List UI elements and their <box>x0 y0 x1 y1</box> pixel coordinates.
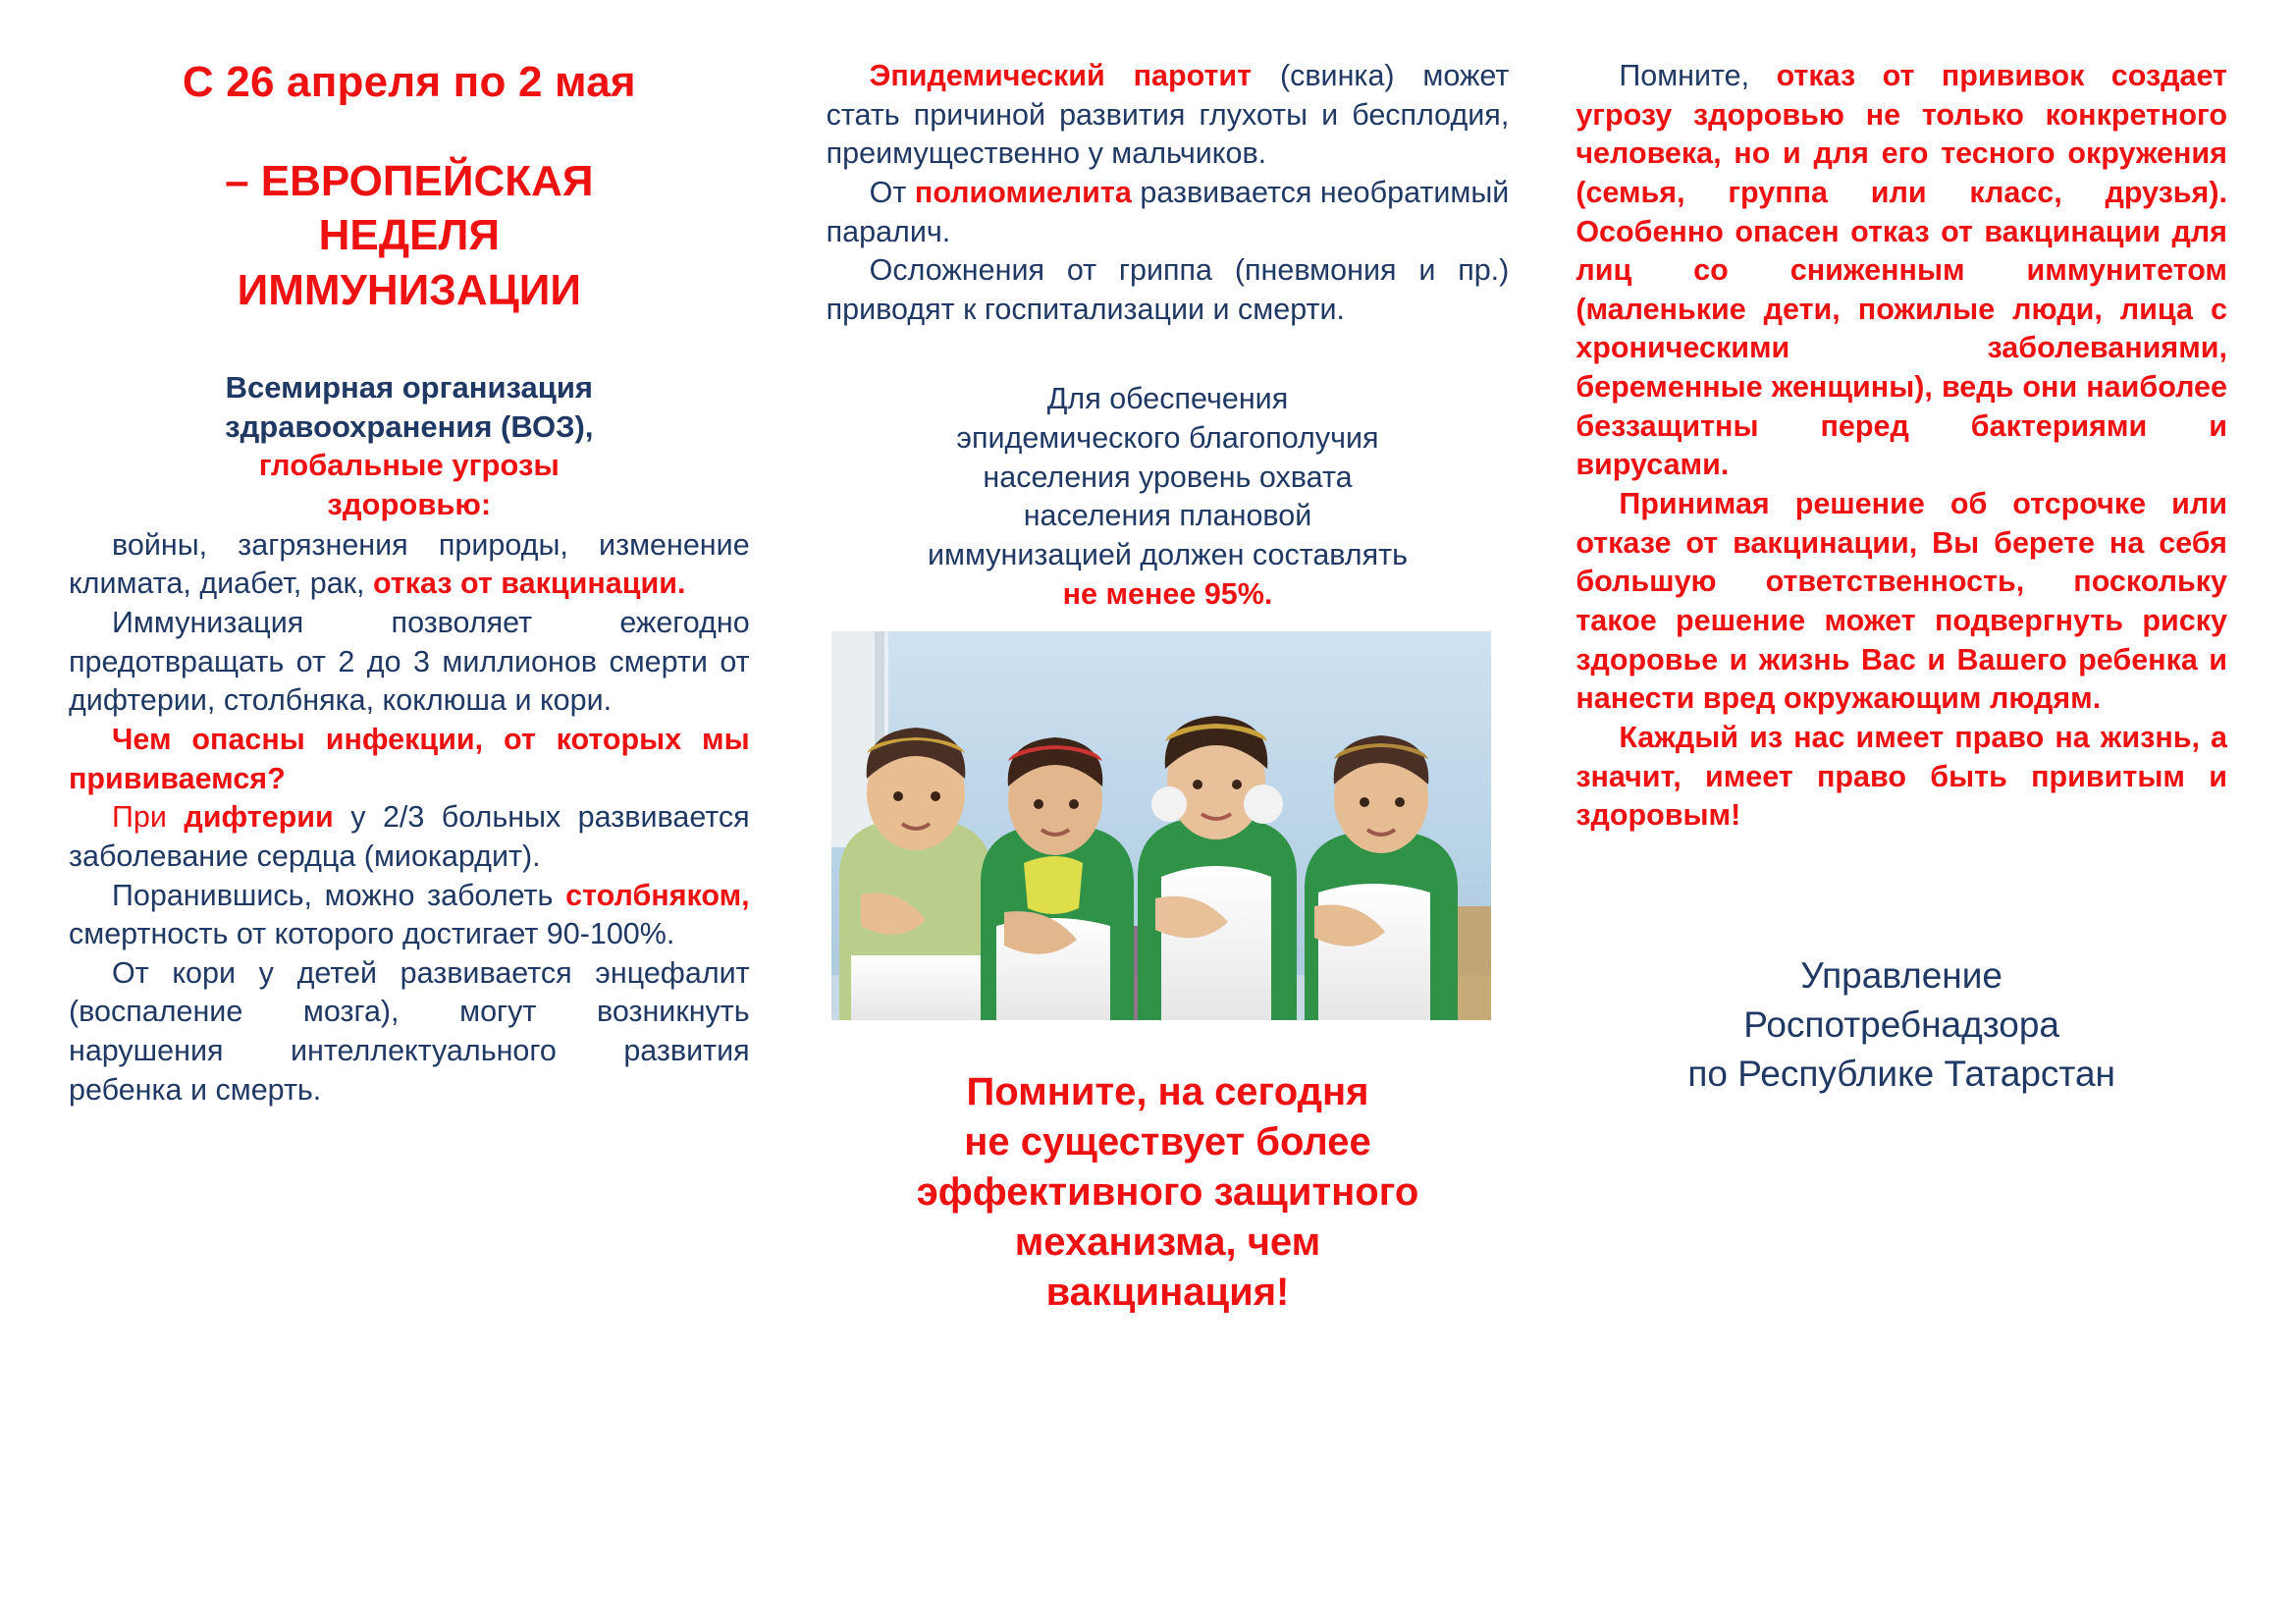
photo-illustration <box>831 631 1491 1020</box>
diphtheria-prefix: При <box>112 800 184 834</box>
footer-line-2: Роспотребнадзора <box>1575 1001 2227 1050</box>
paragraph-flu: Осложнения от гриппа (пневмония и пр.) п… <box>827 251 1510 329</box>
tetanus-rest: смертность от которого достигает 90-100%… <box>69 917 674 950</box>
polio-keyword: полиомиелита <box>915 176 1132 209</box>
brochure-page: С 26 апреля по 2 мая – ЕВРОПЕЙСКАЯ НЕДЕЛ… <box>0 0 2296 1624</box>
who-title-line-2: здравоохранения (ВОЗ), <box>69 407 750 447</box>
paragraph-measles: От кори у детей развивается энцефалит (в… <box>69 954 750 1110</box>
right-column: Помните, отказ от прививок создает угроз… <box>1540 57 2227 1585</box>
coverage-statement: Для обеспечения эпидемического благополу… <box>827 380 1510 614</box>
mumps-keyword: Эпидемический паротит <box>870 59 1252 92</box>
paragraph-diphtheria: При дифтерии у 2/3 больных развивается з… <box>69 798 750 876</box>
footer-organization: Управление Роспотребнадзора по Республик… <box>1575 951 2227 1099</box>
diphtheria-keyword: дифтерии <box>184 800 333 834</box>
coverage-line-5: иммунизацией должен составлять <box>928 538 1408 571</box>
paragraph-tetanus: Поранившись, можно заболеть столбняком, … <box>69 877 750 954</box>
photo-children-vaccinated <box>831 631 1491 1020</box>
callout-line-2: не существует более <box>964 1120 1371 1164</box>
heading-danger-infections: Чем опасны инфекции, от которых мы приви… <box>69 721 750 798</box>
paragraph-right-to-health: Каждый из нас имеет право на жизнь, а зн… <box>1575 719 2227 836</box>
left-column: С 26 апреля по 2 мая – ЕВРОПЕЙСКАЯ НЕДЕЛ… <box>69 57 795 1585</box>
callout-line-5: вакцинация! <box>1046 1271 1290 1314</box>
who-threats-line-1: глобальные угрозы <box>69 446 750 485</box>
polio-prefix: От <box>870 176 915 209</box>
callout-line-4: механизма, чем <box>1015 1220 1321 1264</box>
who-title-line-1: Всемирная организация <box>69 368 750 407</box>
refusal-prefix: Помните, <box>1619 59 1776 92</box>
refusal-body: отказ от прививок создает угрозу здоровь… <box>1575 59 2227 481</box>
left-paragraphs: войны, загрязнения природы, изменение кл… <box>69 526 750 1110</box>
headline-main: – ЕВРОПЕЙСКАЯ НЕДЕЛЯ ИММУНИЗАЦИИ <box>69 154 750 317</box>
coverage-line-1: Для обеспечения <box>1047 382 1288 415</box>
headline-line-3: ИММУНИЗАЦИИ <box>238 266 581 314</box>
middle-column: Эпидемический паротит (свинка) может ста… <box>795 57 1541 1585</box>
middle-paragraphs: Эпидемический паротит (свинка) может ста… <box>827 57 1510 329</box>
paragraph-immunization: Иммунизация позволяет ежегодно предотвра… <box>69 604 750 721</box>
paragraph-refusal-risk: Помните, отказ от прививок создает угроз… <box>1575 57 2227 485</box>
who-title-block: Всемирная организация здравоохранения (В… <box>69 368 750 524</box>
coverage-line-4: населения плановой <box>1024 499 1312 532</box>
coverage-percentage: не менее 95%. <box>1063 577 1273 611</box>
tetanus-prefix: Поранившись, можно заболеть <box>112 879 565 912</box>
headline-line-1: – ЕВРОПЕЙСКАЯ <box>225 157 593 205</box>
threats-refusal-highlight: отказ от вакцинации. <box>373 567 686 600</box>
paragraph-decision-responsibility: Принимая решение об отсрочке или отказе … <box>1575 485 2227 719</box>
callout-line-1: Помните, на сегодня <box>966 1070 1368 1113</box>
footer-line-1: Управление <box>1575 951 2227 1001</box>
callout-line-3: эффективного защитного <box>917 1170 1419 1214</box>
headline-line-2: НЕДЕЛЯ <box>319 211 500 259</box>
paragraph-polio: От полиомиелита развивается необратимый … <box>827 174 1510 251</box>
headline-date: С 26 апреля по 2 мая <box>69 57 750 109</box>
coverage-line-3: населения уровень охвата <box>983 460 1352 494</box>
paragraph-mumps: Эпидемический паротит (свинка) может ста… <box>827 57 1510 174</box>
paragraph-threats: войны, загрязнения природы, изменение кл… <box>69 526 750 604</box>
coverage-line-2: эпидемического благополучия <box>956 421 1378 455</box>
footer-line-3: по Республике Татарстан <box>1575 1050 2227 1099</box>
callout-vaccination: Помните, на сегодня не существует более … <box>827 1067 1510 1317</box>
who-threats-line-2: здоровью: <box>69 485 750 524</box>
tetanus-keyword: столбняком, <box>565 879 750 912</box>
